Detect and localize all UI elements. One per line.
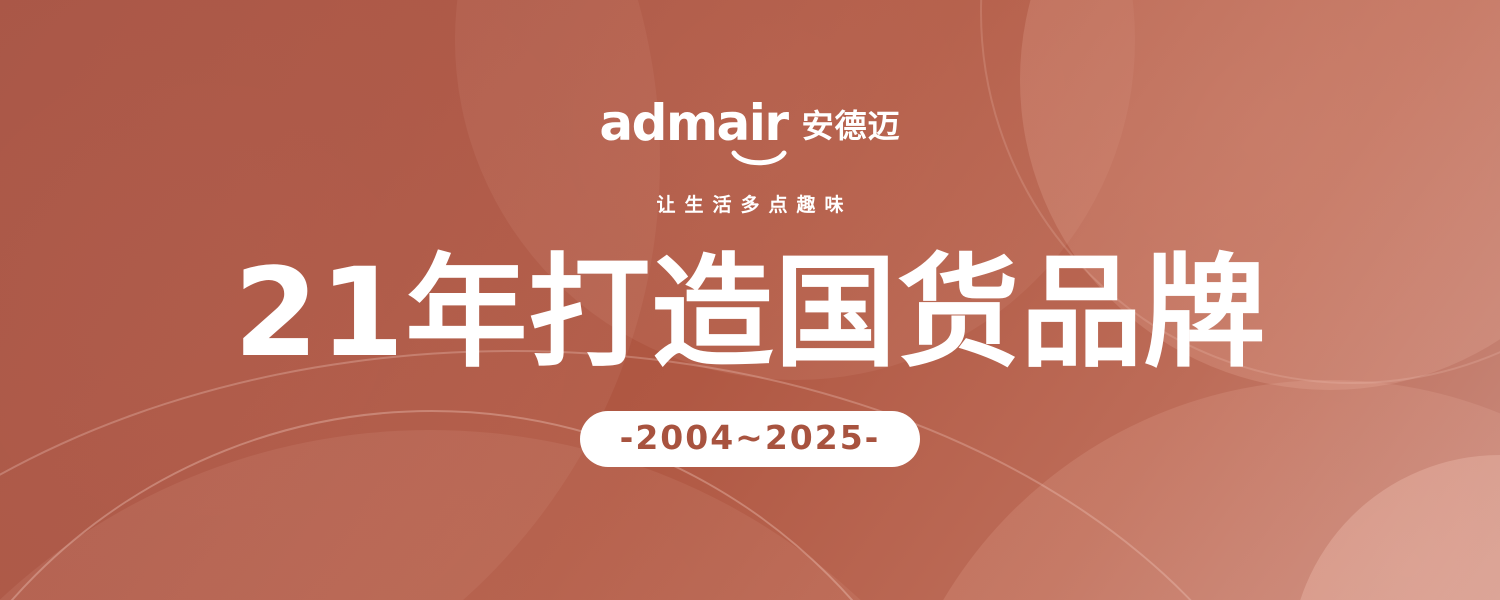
- date-range-badge: -2004~2025-: [580, 411, 921, 467]
- promo-banner: admair 安德迈 让生活多点趣味 21年打造国货品牌 -2004~2025-: [0, 0, 1500, 600]
- brand-tagline: 让生活多点趣味: [0, 190, 1500, 217]
- banner-content: admair 安德迈 让生活多点趣味 21年打造国货品牌 -2004~2025-: [0, 0, 1500, 600]
- brand-logo-lockup: admair 安德迈: [0, 98, 1500, 148]
- brand-wordmark: admair: [599, 98, 787, 148]
- wordmark-wrapper: admair: [599, 98, 787, 148]
- smile-arc-icon: [732, 151, 786, 167]
- brand-chinese-name: 安德迈: [802, 110, 901, 142]
- banner-headline: 21年打造国货品牌: [0, 248, 1500, 380]
- date-badge-row: -2004~2025-: [0, 411, 1500, 467]
